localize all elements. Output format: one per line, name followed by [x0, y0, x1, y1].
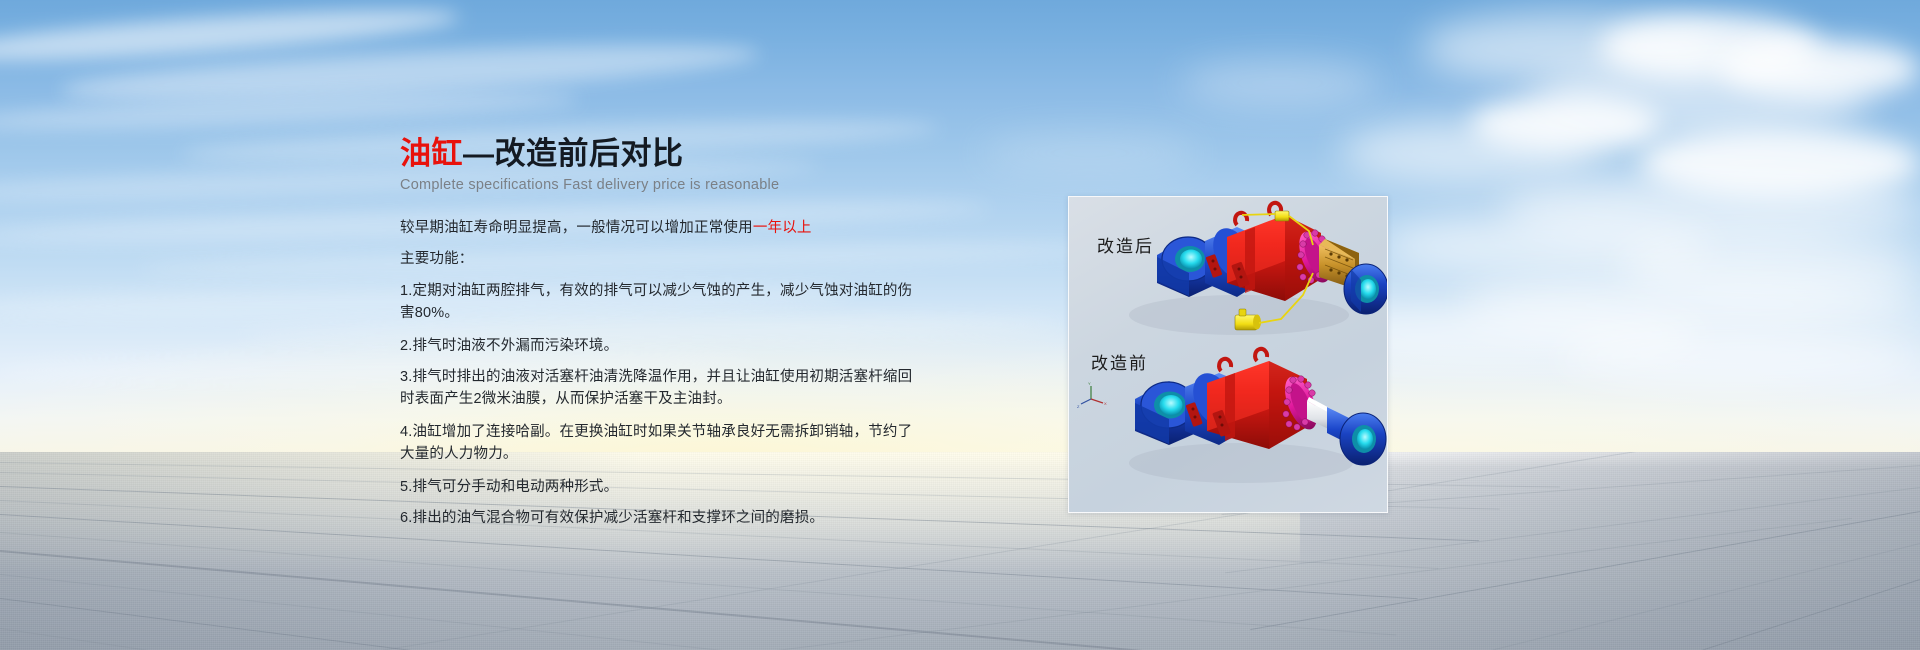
feature-item: 3.排气时排出的油液对活塞杆油清洗降温作用，并且让油缸使用初期活塞杆缩回时表面产…: [400, 366, 920, 411]
feature-item: 1.定期对油缸两腔排气，有效的排气可以减少气蚀的产生，减少气蚀对油缸的伤害80%…: [400, 280, 920, 325]
svg-text:Y: Y: [1088, 381, 1091, 386]
page-subtitle: Complete specifications Fast delivery pr…: [400, 177, 920, 193]
cloud-cumulus: [1560, 330, 1920, 384]
feature-item: 2.排气时油液不外漏而污染环境。: [400, 335, 920, 357]
feature-item: 6.排出的油气混合物可有效保护减少活塞杆和支撑环之间的磨损。: [400, 507, 920, 529]
copy-block: 油缸—改造前后对比 Complete specifications Fast d…: [400, 136, 920, 539]
clevis-right-after: [1344, 264, 1387, 314]
banner-stage: 油缸—改造前后对比 Complete specifications Fast d…: [0, 0, 1920, 650]
body-text: 较早期油缸寿命明显提高，一般情况可以增加正常使用一年以上 主要功能： 1.定期对…: [400, 217, 920, 530]
cloud-cumulus: [980, 132, 1200, 174]
cloud-cumulus: [1340, 120, 1600, 184]
feature-item: 5.排气可分手动和电动两种形式。: [400, 476, 920, 498]
features-heading: 主要功能：: [400, 248, 920, 270]
intro-prefix: 较早期油缸寿命明显提高，一般情况可以增加正常使用: [400, 220, 753, 236]
ground-plane: [0, 452, 1920, 650]
intro-line: 较早期油缸寿命明显提高，一般情况可以增加正常使用一年以上: [400, 217, 920, 239]
illustration-panel[interactable]: Y X Z 改造后 改造前: [1068, 196, 1388, 513]
page-title-highlight: 油缸: [400, 136, 463, 171]
caption-after: 改造后: [1097, 232, 1154, 257]
intro-highlight: 一年以上: [753, 220, 812, 236]
page-title: 油缸—改造前后对比: [400, 136, 920, 172]
caption-before: 改造前: [1091, 349, 1148, 374]
svg-text:X: X: [1104, 401, 1107, 406]
svg-text:Z: Z: [1077, 404, 1080, 409]
cylinder-before: [1129, 349, 1386, 483]
cylinder-after: [1129, 203, 1387, 335]
ground-texture: [0, 452, 1920, 650]
illustration-canvas: Y X Z 改造后 改造前: [1069, 197, 1387, 512]
xyz-axis-icon: Y X Z: [1077, 381, 1107, 409]
cloud-cumulus: [1180, 60, 1380, 106]
feature-item: 4.油缸增加了连接哈副。在更换油缸时如果关节轴承良好无需拆卸销轴，节约了大量的人…: [400, 421, 920, 466]
page-title-rest: —改造前后对比: [463, 136, 684, 171]
